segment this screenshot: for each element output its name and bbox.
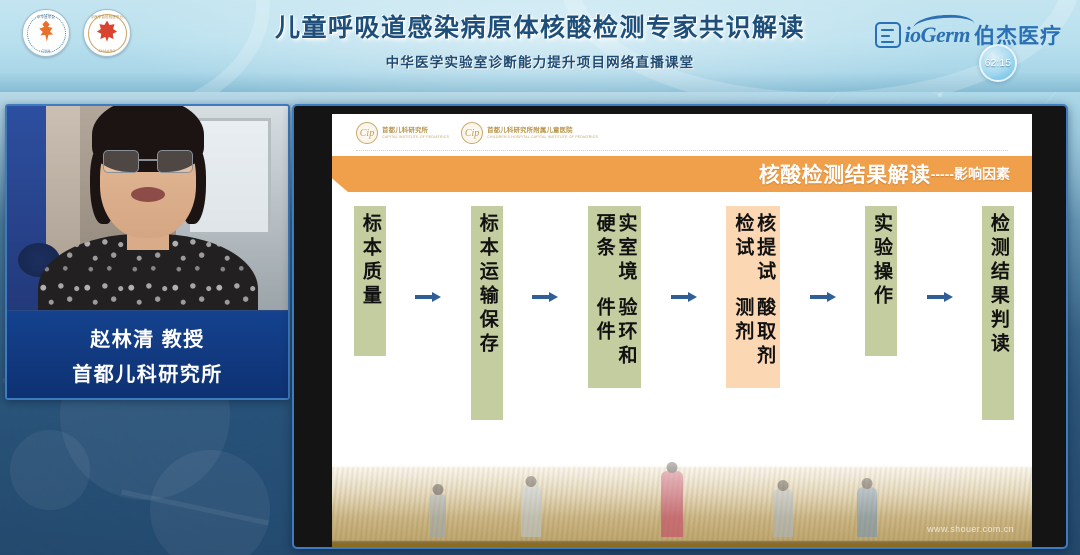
slide-logo-cip-hospital: Cip 首都儿科研究所附属儿童医院 CHILDREN'S HOSPITAL CA… [461,122,598,144]
slide-title-text-wrap: 核酸检测结果解读 -----影响因素 [332,156,1010,192]
slide-title: 核酸检测结果解读 [759,159,931,189]
arrow-right-icon [810,292,836,302]
background-blob-2 [150,450,270,555]
slide-footer-photo: www.shouer.com.cn [332,431,1032,549]
slide-title-suffix: -----影响因素 [931,164,1010,184]
slide-logo-text: 首都儿科研究所附属儿童医院 CHILDREN'S HOSPITAL CAPITA… [487,127,598,139]
speaker-figure [38,135,258,314]
flow-box: 实室境硬条 验环和件件 [588,206,642,388]
speaker-webcam-feed[interactable] [7,106,288,314]
flow-box: 标本运输保存 [471,206,503,420]
slide-logo-text: 首都儿科研究所 CAPITAL INSTITUTE OF PEDIATRICS [382,127,449,139]
biogerm-bars-icon [875,22,901,48]
slide-logo-cip: Cip 首都儿科研究所 CAPITAL INSTITUTE OF PEDIATR… [356,122,449,144]
page-subtitle: 中华医学实验室诊断能力提升项目网络直播课堂 [0,51,1080,71]
brand-en-name: ioGerm [905,22,970,48]
brand-cn-name: 伯杰医疗 [974,20,1062,50]
glasses-lens-right [157,150,193,173]
glasses-icon [103,150,193,174]
flow-box-label: 标本质量 [359,213,381,309]
session-timer-badge: 62:15 [979,44,1017,82]
flow-box-label-col-1: 实室境硬条 [593,213,637,297]
slide-content[interactable]: Cip 首都儿科研究所 CAPITAL INSTITUTE OF PEDIATR… [332,114,1032,549]
speaker-video-panel[interactable]: 赵林清 教授 首都儿科研究所 [5,104,290,400]
page-header: 中华医学会 CMA 中华医学会检验医学分会 CHAARG 儿童呼吸道感染病原体核… [0,0,1080,92]
slide-logo-group: Cip 首都儿科研究所 CAPITAL INSTITUTE OF PEDIATR… [356,122,598,144]
arrow-right-icon [927,292,953,302]
speaker-name: 赵林清 教授 [90,323,205,352]
glasses-bridge [139,159,157,161]
sponsor-brand-logo: ioGerm 伯杰医疗 [875,20,1062,50]
flow-box-label-col-2: 酸取剂测剂 [731,297,775,381]
arrow-right-icon [671,292,697,302]
flow-box: 实验操作 [865,206,897,356]
slide-header-divider [356,150,1008,151]
flow-box-label: 检测结果判读 [987,213,1009,357]
speaker-organization: 首都儿科研究所 [72,358,223,387]
glasses-lens-left [103,150,139,173]
presentation-slide-panel[interactable]: Cip 首都儿科研究所 CAPITAL INSTITUTE OF PEDIATR… [292,104,1068,549]
slide-logo-en: CHILDREN'S HOSPITAL CAPITAL INSTITUTE OF… [487,135,598,139]
background-line-2 [121,489,269,525]
flow-box-label: 实验操作 [870,213,892,309]
background-blob-3 [10,430,90,510]
cip-seal-icon: Cip [356,122,378,144]
cip-hospital-seal-icon: Cip [461,122,483,144]
slide-logo-cn: 首都儿科研究所附属儿童医院 [487,127,598,135]
slide-logo-en: CAPITAL INSTITUTE OF PEDIATRICS [382,135,449,139]
flow-box-label: 标本运输保存 [476,213,498,357]
flow-box: 标本质量 [354,206,386,356]
arrow-right-icon [415,292,441,302]
influencing-factors-flowchart: 标本质量 标本运输保存 实室境硬条 验环和件件 核提试检试 酸取剂测剂 实验操作 [354,206,1014,436]
speaker-nameplate: 赵林清 教授 首都儿科研究所 [7,310,288,398]
flow-box-label-col-2: 验环和件件 [593,297,637,381]
flow-box: 检测结果判读 [982,206,1014,420]
slide-watermark: www.shouer.com.cn [927,524,1014,534]
flow-box-label-col-1: 核提试检试 [731,213,775,297]
speaker-mouth [131,187,165,202]
arrow-right-icon [532,292,558,302]
flow-box-highlighted: 核提试检试 酸取剂测剂 [726,206,780,388]
slide-footer-bar [332,544,1032,549]
slide-logo-cn: 首都儿科研究所 [382,127,449,135]
